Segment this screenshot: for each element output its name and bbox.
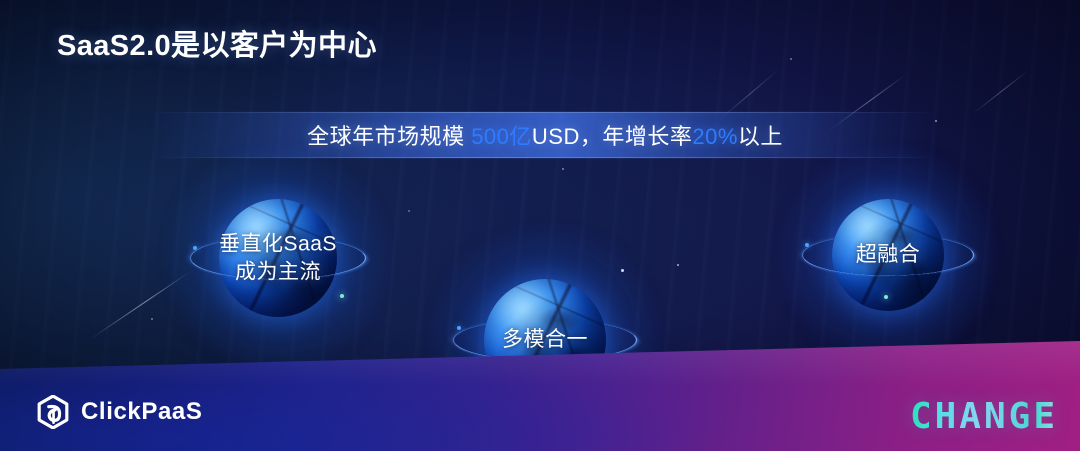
subtitle-banner-edge-top	[150, 112, 940, 113]
subtitle-banner: 全球年市场规模 500亿USD，年增长率20%以上	[150, 112, 940, 158]
meteor-streak	[972, 71, 1028, 115]
planet-label: 超融合	[856, 241, 921, 269]
brand-logo-text: ClickPaaS	[81, 398, 202, 426]
orbit-dot	[457, 326, 461, 330]
brand-logo[interactable]: ClickPaaS	[36, 395, 202, 429]
planet-label-line1: 多模合一	[502, 328, 588, 351]
planet-label: 多模合一	[502, 326, 588, 354]
orbit-dot	[193, 246, 197, 250]
subtitle-highlight-amount: 500亿	[471, 124, 532, 149]
watermark-change: CHANGE	[910, 396, 1058, 437]
subtitle-tail: 以上	[738, 124, 783, 149]
planet-label-line2: 成为主流	[235, 260, 321, 283]
orbit-dot	[884, 295, 888, 299]
subtitle-lead: 全球年市场规模	[307, 124, 471, 149]
hexagon-leaf-icon	[36, 395, 70, 429]
star-dot	[621, 269, 624, 272]
star-dot	[790, 58, 792, 60]
planet-label-line1: 超融合	[856, 243, 921, 266]
planet-label-line1: 垂直化SaaS	[219, 232, 337, 255]
star-dot	[677, 264, 679, 266]
star-dot	[151, 318, 153, 320]
subtitle-text: 全球年市场规模 500亿USD，年增长率20%以上	[150, 119, 940, 151]
subtitle-banner-edge-bottom	[150, 157, 940, 158]
planet-label: 垂直化SaaS 成为主流	[219, 230, 337, 285]
orbit-dot	[340, 294, 344, 298]
subtitle-highlight-growth: 20%	[692, 124, 738, 149]
orbit-dot	[805, 243, 809, 247]
meteor-streak	[90, 272, 190, 340]
page-title: SaaS2.0是以客户为中心	[57, 22, 377, 64]
subtitle-mid: USD，年增长率	[532, 124, 692, 149]
slide-canvas: SaaS2.0是以客户为中心 全球年市场规模 500亿USD，年增长率20%以上…	[0, 0, 1080, 451]
star-dot	[562, 168, 564, 170]
star-dot	[408, 210, 410, 212]
